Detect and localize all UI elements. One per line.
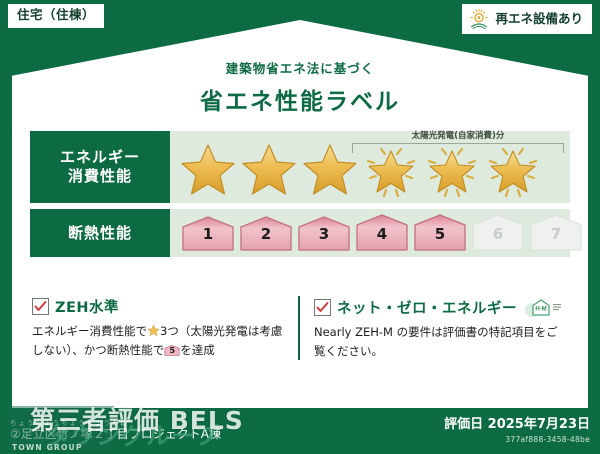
footer-address: ②足立区竹ノ塚２丁目プロジェクトA棟 xyxy=(10,427,221,441)
zeh-checkbox xyxy=(32,298,49,315)
insulation-grade-value: 1 xyxy=(180,227,236,242)
star-rating xyxy=(170,141,543,199)
star-filled xyxy=(300,141,360,199)
building-type-badge-label: 住宅（住棟） xyxy=(17,7,95,22)
check-icon xyxy=(316,301,329,314)
zeh-note-header: ZEH水準 xyxy=(32,296,286,317)
evaluation-id: 377af888-3458-48be xyxy=(444,435,590,444)
rating-rows: エネルギー 消費性能 太陽光発電(自家消費)分 xyxy=(30,131,570,263)
inline-star-icon xyxy=(147,324,160,337)
insulation-grade-value: 4 xyxy=(354,227,410,242)
insulation-grade-on: 5 xyxy=(412,214,468,252)
insulation-grade-value: 7 xyxy=(528,227,584,242)
inline-grade-value: 5 xyxy=(164,347,180,355)
net-zero-note-title: ネット・ゼロ・エネルギー xyxy=(337,297,517,318)
insulation-label: 断熱性能 xyxy=(68,224,132,243)
insulation-row: 断熱性能 1 2 xyxy=(30,209,570,257)
star-filled xyxy=(239,141,299,199)
renewable-energy-badge: 再エネ設備あり xyxy=(462,4,592,34)
zeh-note-text-3: を達成 xyxy=(180,343,215,357)
zeh-m-logo-icon: H·M xyxy=(523,296,565,318)
building-type-badge: 住宅（住棟） xyxy=(8,4,104,28)
insulation-grade-value: 2 xyxy=(238,227,294,242)
insulation-grade-value: 5 xyxy=(412,227,468,242)
net-zero-checkbox xyxy=(314,299,331,316)
energy-consumption-row-body: 太陽光発電(自家消費)分 xyxy=(170,131,570,203)
zeh-note-text-1: エネルギー消費性能で xyxy=(32,324,147,338)
star-solar xyxy=(422,141,482,199)
net-zero-note-body: Nearly ZEH-M の要件は評価書の特記項目をご覧ください。 xyxy=(314,323,568,360)
svg-text:H·M: H·M xyxy=(535,307,546,313)
footer-address-block: ちょうちょうちょうちょうかに ②足立区竹ノ塚２丁目プロジェクトA棟 xyxy=(0,420,444,441)
insulation-grade-off: 7 xyxy=(528,214,584,252)
insulation-row-label: 断熱性能 xyxy=(30,209,170,257)
solar-bracket-label: 太陽光発電(自家消費)分 xyxy=(352,129,564,141)
evaluation-date: 評価日 2025年7月23日 xyxy=(444,418,590,432)
energy-label-line2: 消費性能 xyxy=(68,167,132,186)
net-zero-note: ネット・ゼロ・エネルギー H·M Nearly ZEH-M の要件は評価書の特記… xyxy=(298,296,568,360)
zeh-note-body: エネルギー消費性能で3つ（太陽光発電は考慮しない）、かつ断熱性能で5を達成 xyxy=(32,322,286,359)
energy-consumption-row-label: エネルギー 消費性能 xyxy=(30,131,170,203)
label-title-block: 建築物省エネ法に基づく 省エネ性能ラベル xyxy=(0,58,600,116)
insulation-grade-value: 6 xyxy=(470,227,526,242)
renewable-energy-badge-label: 再エネ設備あり xyxy=(495,13,583,26)
insulation-grade-on: 1 xyxy=(180,214,236,252)
star-solar xyxy=(361,141,421,199)
insulation-row-body: 1 2 3 4 xyxy=(170,209,584,257)
insulation-grade-scale: 1 2 3 4 xyxy=(170,214,584,252)
star-solar xyxy=(483,141,543,199)
energy-consumption-row: エネルギー 消費性能 太陽光発電(自家消費)分 xyxy=(30,131,570,203)
zeh-note-title: ZEH水準 xyxy=(55,296,119,317)
notes-section: ZEH水準 エネルギー消費性能で3つ（太陽光発電は考慮しない）、かつ断熱性能で5… xyxy=(32,296,568,360)
star-filled xyxy=(178,141,238,199)
insulation-grade-value: 3 xyxy=(296,227,352,242)
footer-ruby: ちょうちょうちょうちょうかに xyxy=(10,420,444,427)
check-icon xyxy=(34,300,47,313)
label-subtitle: 建築物省エネ法に基づく xyxy=(0,58,600,77)
zeh-note: ZEH水準 エネルギー消費性能で3つ（太陽光発電は考慮しない）、かつ断熱性能で5… xyxy=(32,296,286,360)
label-footer: ちょうちょうちょうちょうかに ②足立区竹ノ塚２丁目プロジェクトA棟 評価日 20… xyxy=(0,408,600,454)
energy-performance-label: 住宅（住棟） 再エネ設備あり 建築物省エネ法に基づく 省エネ性能ラベル xyxy=(0,0,600,454)
footer-date-block: 評価日 2025年7月23日 377af888-3458-48be xyxy=(444,418,600,443)
sun-icon xyxy=(468,8,490,30)
evaluation-date-value: 2025年7月23日 xyxy=(488,417,590,432)
insulation-grade-on: 2 xyxy=(238,214,294,252)
label-title: 省エネ性能ラベル xyxy=(0,82,600,116)
energy-label-line1: エネルギー xyxy=(60,148,140,167)
insulation-grade-on: 3 xyxy=(296,214,352,252)
evaluation-date-label: 評価日 xyxy=(444,417,483,432)
net-zero-note-header: ネット・ゼロ・エネルギー H·M xyxy=(314,296,568,318)
insulation-grade-off: 6 xyxy=(470,214,526,252)
insulation-grade-on: 4 xyxy=(354,214,410,252)
inline-grade-icon: 5 xyxy=(164,344,180,357)
